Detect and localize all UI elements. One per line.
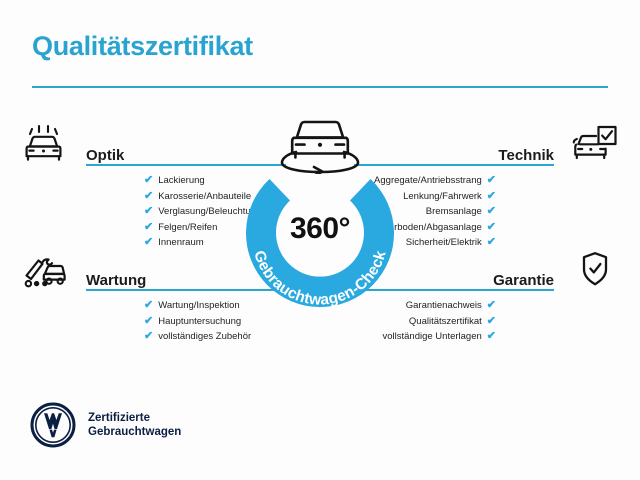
check-icon: ✔ <box>144 222 153 233</box>
shield-check-icon <box>572 249 618 289</box>
check-icon: ✔ <box>144 237 153 248</box>
volkswagen-logo <box>30 402 76 448</box>
list-item-label: Sicherheit/Elektrik <box>406 235 482 251</box>
list-item-label: Lackierung <box>158 173 204 189</box>
car-service-wrench-icon <box>22 249 68 289</box>
check-icon: ✔ <box>144 175 153 186</box>
list-item-label: Felgen/Reifen <box>158 220 217 236</box>
badge-degrees-label: 360° <box>229 212 411 246</box>
check-icon: ✔ <box>144 300 153 311</box>
footer-line-2: Gebrauchtwagen <box>88 425 181 440</box>
check-icon: ✔ <box>487 331 496 342</box>
list-item-label: Lenkung/Fahrwerk <box>403 189 482 205</box>
list-item-label: Qualitätszertifikat <box>409 314 482 330</box>
footer-line-1: Zertifizierte <box>88 411 181 426</box>
check-icon: ✔ <box>487 300 496 311</box>
section-title-wartung: Wartung <box>86 271 146 291</box>
list-item-label: vollständige Unterlagen <box>382 329 481 345</box>
car-shine-icon <box>22 124 68 164</box>
title-block: Qualitätszertifikat <box>32 32 608 62</box>
section-title-optik: Optik <box>86 146 124 166</box>
list-item: vollständige Unterlagen ✔ <box>354 329 496 345</box>
badge-360-gebrauchtwagen-check: Gebrauchtwagen-Check 360° <box>229 146 411 328</box>
check-icon: ✔ <box>144 316 153 327</box>
list-item: ✔ vollständiges Zubehör <box>144 329 286 345</box>
list-item-label: vollständiges Zubehör <box>158 329 251 345</box>
check-icon: ✔ <box>487 222 496 233</box>
certificate-page: Qualitätszertifikat <box>0 0 640 480</box>
check-icon: ✔ <box>144 191 153 202</box>
check-icon: ✔ <box>144 331 153 342</box>
car-checkbox-icon <box>572 124 618 164</box>
check-icon: ✔ <box>487 206 496 217</box>
list-item-label: Wartung/Inspektion <box>158 298 240 314</box>
list-item-label: Innenraum <box>158 235 203 251</box>
list-item-label: Garantienachweis <box>406 298 482 314</box>
car-rotate-icon <box>276 112 364 174</box>
check-icon: ✔ <box>487 191 496 202</box>
check-icon: ✔ <box>144 206 153 217</box>
section-title-technik: Technik <box>498 146 554 166</box>
footer-text: Zertifizierte Gebrauchtwagen <box>88 411 181 440</box>
check-icon: ✔ <box>487 237 496 248</box>
section-title-garantie: Garantie <box>493 271 554 291</box>
check-icon: ✔ <box>487 175 496 186</box>
footer-brand-lockup: Zertifizierte Gebrauchtwagen <box>30 402 181 448</box>
check-icon: ✔ <box>487 316 496 327</box>
list-item-label: Bremsanlage <box>426 204 482 220</box>
title-divider <box>32 86 608 88</box>
page-title: Qualitätszertifikat <box>32 32 608 62</box>
